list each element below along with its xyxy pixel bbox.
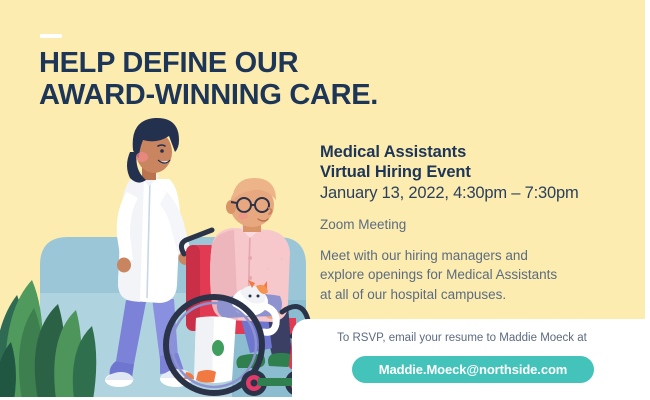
- rsvp-instruction: To RSVP, email your resume to Maddie Moe…: [292, 332, 632, 344]
- hiring-event-poster: HELP DEFINE OUR AWARD-WINNING CARE. Medi…: [0, 0, 650, 400]
- rsvp-email-button[interactable]: Maddie.Moeck@northside.com: [352, 356, 594, 383]
- frame-edge-right: [645, 0, 650, 400]
- rsvp-panel: To RSVP, email your resume to Maddie Moe…: [292, 319, 650, 397]
